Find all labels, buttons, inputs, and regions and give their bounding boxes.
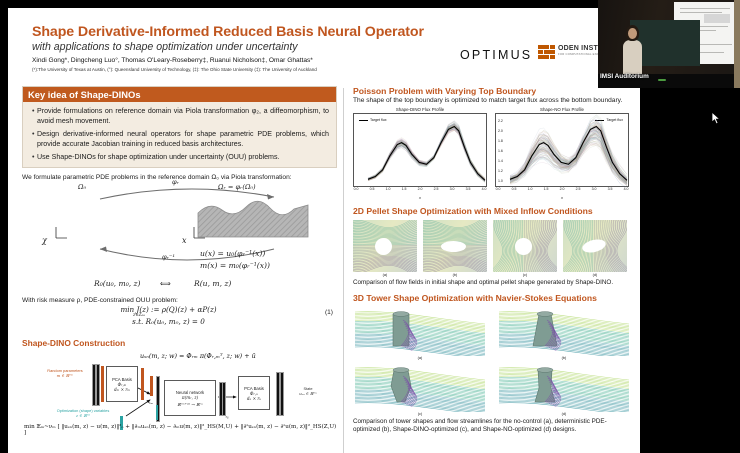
column-divider (343, 88, 344, 453)
poisson-section-header: Poisson Problem with Varying Top Boundar… (353, 86, 633, 96)
tower-panel: (b) (497, 306, 631, 360)
right-column: Poisson Problem with Varying Top Boundar… (353, 86, 633, 435)
pellet-flow-image-a (353, 220, 417, 272)
chart-plot-shape-dino: Target flux (353, 113, 487, 187)
label-omega-0: Ω₀ (78, 183, 86, 191)
tower-flow-image-b (497, 306, 631, 356)
training-loss-equation: min 𝔼ₘ~νₘ [ ‖uₛₙ(m, z) − u(m, z)‖²ₒ + ‖∂… (24, 424, 337, 438)
tower-section-caption: Comparison of tower shapes and flow stre… (353, 418, 633, 435)
status-led (658, 79, 666, 81)
state-output-label: State uₛₙ ∈ ℝᴰᵘ (286, 386, 330, 396)
bullet-item: Design derivative-informed neural operat… (32, 129, 329, 150)
pellet-panel-label: (c) (493, 273, 557, 277)
label-chi: χ (42, 236, 47, 245)
tower-panel-label: (c) (353, 412, 487, 416)
pellet-panel: (a) (353, 220, 417, 277)
pca-basis-output-box: PCA Basis Φᵣ,ᵤ dᵤ × rᵤ (238, 376, 270, 410)
oden-logo-mark (538, 45, 555, 59)
tower-flow-image-a (353, 306, 487, 356)
video-edge-strip (734, 0, 740, 88)
risk-measure-text: With risk measure ρ, PDE-constrained OUU… (22, 297, 337, 304)
objective-equation: min J(z) := ρ(Q)(z) + αP(z) (22, 305, 337, 314)
constraint-equation: s.t. R₀(u₀, m₀, z) = 0 (22, 317, 337, 326)
video-caption: IMSI Auditorium (600, 73, 649, 80)
random-parameter-label: Random parameters m ∈ ℝᴰᵐ (40, 368, 90, 378)
objective-subscript: z∈Zₐₑ (133, 313, 145, 318)
pellet-flow-image-b (423, 220, 487, 272)
equivalence-arrow: ⟺ (160, 279, 171, 288)
optimus-logo: OPTIMUS (460, 48, 532, 62)
chart-xlabel-shape-dino: x (353, 196, 487, 200)
chart-plot-shape-no: Target flux 2.2 2.0 1.8 1.6 1.4 1.2 1.0 (495, 113, 629, 187)
presenter-head (628, 28, 637, 39)
pellet-section-header: 2D Pellet Shape Optimization with Mixed … (353, 206, 633, 216)
construction-header: Shape-DINO Construction (22, 338, 337, 348)
chart-xlabel-shape-no: x (495, 196, 629, 200)
label-x: x (182, 236, 187, 245)
optimization-variable-label: Optimization (shape) variables z ∈ ℝᴰᶻ (52, 408, 114, 418)
equation-u: u(x) = u₀(φᵣ⁻¹(x)) (200, 249, 265, 258)
label-map-top: φᵣ (172, 178, 179, 186)
tower-panel-grid: (a) (b) (c) (d) (353, 306, 633, 416)
pellet-panel-row: (a) (b) (c) (353, 220, 633, 277)
key-idea-bullets: Provide formulations on reference domain… (23, 102, 336, 167)
piola-arrows (22, 183, 337, 295)
presenter-body (623, 40, 642, 74)
pellet-panel: (d) (563, 220, 627, 277)
tower-flow-image-c (353, 362, 487, 412)
tower-panel: (d) (497, 362, 631, 416)
slide-title: Shape Derivative-Informed Reduced Basis … (32, 24, 424, 40)
chart-xaxis-shape-dino: 0.0 0.5 1.0 1.5 2.0 2.5 3.0 3.5 4.0 (353, 187, 487, 196)
key-idea-box: Key idea of Shape-DINOs Provide formulat… (22, 86, 337, 168)
tower-panel-label: (a) (353, 356, 487, 360)
video-participant-tile[interactable]: IMSI Auditorium (598, 0, 740, 88)
formulation-text: We formulate parametric PDE problems in … (22, 174, 337, 181)
neural-network-dim: ℝʳᵐ⁺ᵈᶻ → ℝʳᵘ (177, 402, 203, 407)
tower-panel: (c) (353, 362, 487, 416)
pellet-flow-image-c (493, 220, 557, 272)
tower-flow-image-d (497, 362, 631, 412)
ru-tag: rᵤ (220, 414, 234, 419)
chart-curves-shape-dino (354, 114, 488, 188)
label-map-bottom: φᵣ⁻¹ (162, 253, 175, 261)
screen: Shape Derivative-Informed Reduced Basis … (0, 0, 740, 453)
equation-R0: R₀(u₀, m₀, z) (94, 279, 141, 288)
poisson-section-subtitle: The shape of the top boundary is optimiz… (353, 97, 633, 104)
flux-chart-row: Shape-DINO Flux Profile Target flux 0.0 … (353, 107, 633, 200)
pellet-section-caption: Comparison of flow fields in initial sha… (353, 279, 633, 288)
pca-basis-output-dim: dᵤ × rᵤ (247, 396, 261, 401)
equation-number: (1) (325, 309, 333, 316)
left-column: Key idea of Shape-DINOs Provide formulat… (22, 86, 337, 436)
pellet-panel-label: (d) (563, 273, 627, 277)
flux-chart-card: Shape-NO Flux Profile Target flux 2.2 2.… (495, 107, 629, 200)
equation-m: m(x) = m₀(φᵣ⁻¹(x)) (200, 261, 270, 270)
label-omega-z: Ωᵣ = φᵣ(Ω₀) (218, 183, 256, 191)
neural-network-symbol: π(mᵣ, z) (182, 395, 198, 400)
chart-title-shape-dino: Shape-DINO Flux Profile (353, 107, 487, 112)
tower-section-header: 3D Tower Shape Optimization with Navier-… (353, 293, 633, 303)
slide-subtitle: with applications to shape optimization … (32, 41, 298, 53)
bullet-item: Provide formulations on reference domain… (32, 106, 329, 127)
pellet-panel-label: (b) (423, 273, 487, 277)
piola-diagram: Ω₀ φᵣ Ωᵣ = φᵣ(Ω₀) χ x φᵣ⁻¹ u(x) = u₀(φᵣ⁻… (22, 183, 337, 295)
key-idea-header: Key idea of Shape-DINOs (23, 87, 336, 102)
tower-panel-label: (b) (497, 356, 631, 360)
equation-R: R(u, m, z) (194, 279, 231, 288)
pellet-panel: (b) (423, 220, 487, 277)
pca-basis-input-box: PCA Basis Φᵣ,ₘ dₘ × rₘ (106, 366, 138, 402)
author-list: Xindi Gong*, Dingcheng Luo°, Thomas O'Le… (32, 57, 313, 64)
tower-panel: (a) (353, 306, 487, 360)
pellet-flow-image-d (563, 220, 627, 272)
pellet-panel-label: (a) (353, 273, 417, 277)
affiliation-list: (*):The University of Texas at Austin, (… (32, 67, 317, 72)
presentation-slide: Shape Derivative-Informed Reduced Basis … (8, 8, 640, 453)
flux-chart-card: Shape-DINO Flux Profile Target flux 0.0 … (353, 107, 487, 200)
chart-curves-shape-no (496, 114, 630, 188)
shape-dino-architecture-diagram: uₛₙ(m, z; w) = Φᵣₘ π(Φᵣ,ₘᵀ, z; w) + ū PC… (22, 350, 337, 436)
neural-network-box: Neural network π(mᵣ, z) ℝʳᵐ⁺ᵈᶻ → ℝʳᵘ (164, 380, 216, 416)
tower-panel-label: (d) (497, 412, 631, 416)
chart-title-shape-no: Shape-NO Flux Profile (495, 107, 629, 112)
pellet-panel: (c) (493, 220, 557, 277)
bullet-item: Use Shape-DINOs for shape optimization u… (32, 152, 329, 162)
mouse-cursor (712, 112, 721, 126)
pca-basis-input-dim: dₘ × rₘ (114, 387, 130, 392)
chart-xaxis-shape-no: 0.0 0.5 1.0 1.5 2.0 2.5 3.0 3.5 4.0 (495, 187, 629, 196)
